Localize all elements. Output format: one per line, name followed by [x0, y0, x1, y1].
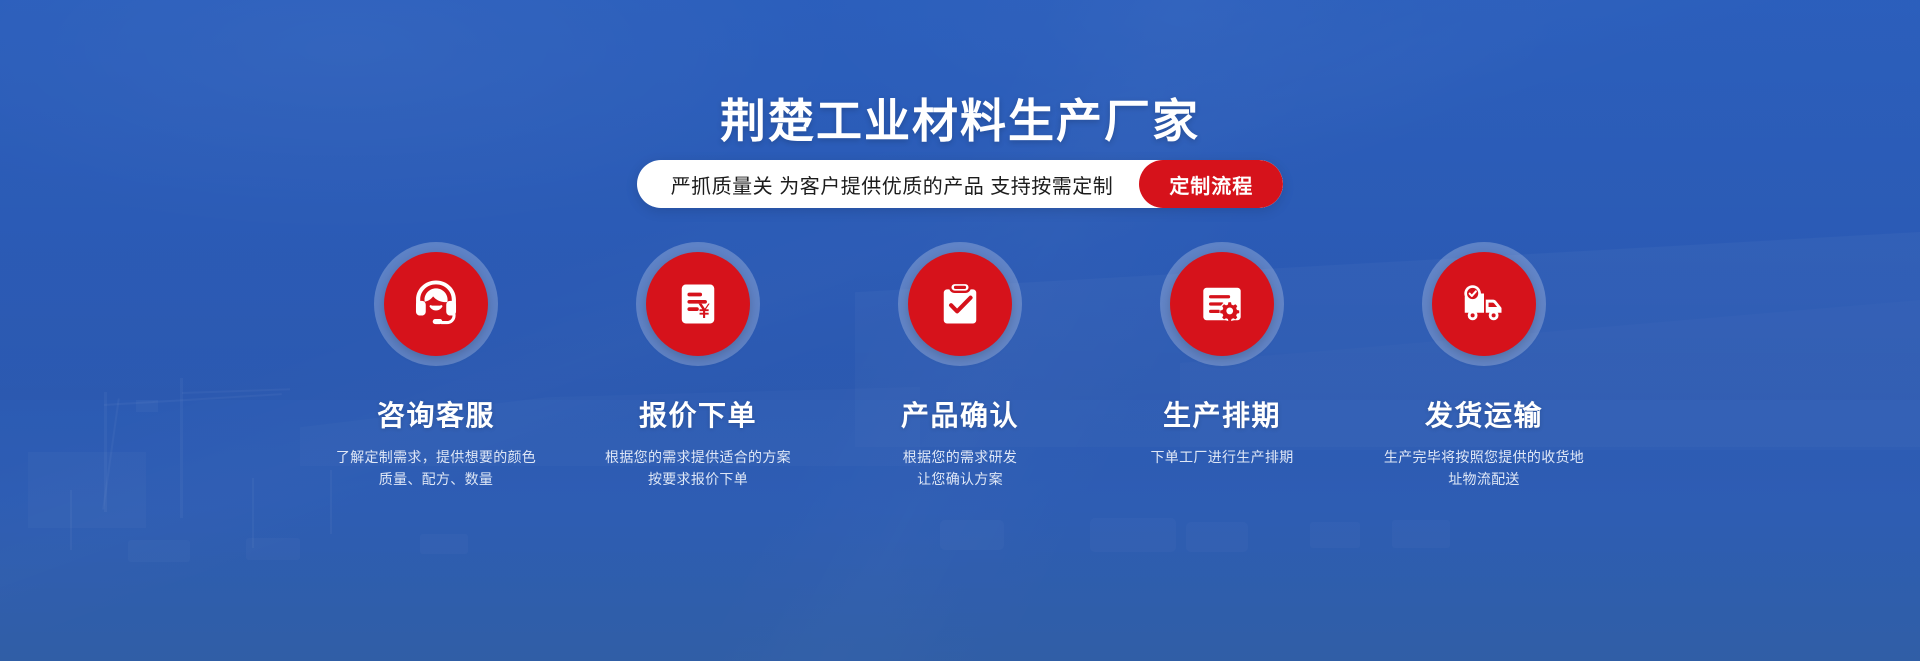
document-gear-icon [1196, 278, 1248, 330]
step-title: 生产排期 [1163, 394, 1281, 434]
step-description-line: 让您确认方案 [903, 468, 1017, 490]
step-description-line: 下单工厂进行生产排期 [1151, 446, 1294, 468]
step-icon-disc [1170, 252, 1274, 356]
process-step-delivery: 发货运输 生产完毕将按照您提供的收货地 址物流配送 [1353, 242, 1615, 490]
headset-support-icon [407, 275, 465, 333]
step-description-line: 质量、配方、数量 [336, 468, 536, 490]
step-icon-button[interactable] [374, 242, 498, 366]
process-step-confirm: 产品确认 根据您的需求研发 让您确认方案 [829, 242, 1091, 490]
custom-process-button[interactable]: 定制流程 [1139, 160, 1283, 208]
step-description-line: 生产完毕将按照您提供的收货地 [1384, 446, 1584, 468]
process-step-quote: 报价下单 根据您的需求提供适合的方案 按要求报价下单 [567, 242, 829, 490]
step-description: 根据您的需求提供适合的方案 按要求报价下单 [605, 446, 791, 490]
step-icon-button[interactable] [1422, 242, 1546, 366]
promo-banner: 荆楚工业材料生产厂家 严抓质量关 为客户提供优质的产品 支持按需定制 定制流程 [0, 0, 1920, 661]
step-icon-disc [1432, 252, 1536, 356]
slogan-text: 严抓质量关 为客户提供优质的产品 支持按需定制 [637, 160, 1140, 208]
step-title: 发货运输 [1425, 394, 1543, 434]
step-icon-button[interactable] [1160, 242, 1284, 366]
step-icon-button[interactable] [636, 242, 760, 366]
step-icon-disc [908, 252, 1012, 356]
process-step-consult: 咨询客服 了解定制需求，提供想要的颜色 质量、配方、数量 [305, 242, 567, 490]
clipboard-check-icon [934, 278, 986, 330]
step-title: 产品确认 [901, 394, 1019, 434]
step-description: 了解定制需求，提供想要的颜色 质量、配方、数量 [336, 446, 536, 490]
page-title: 荆楚工业材料生产厂家 [0, 92, 1920, 150]
step-description-line: 址物流配送 [1384, 468, 1584, 490]
process-steps: 咨询客服 了解定制需求，提供想要的颜色 质量、配方、数量 [0, 242, 1920, 490]
step-description: 根据您的需求研发 让您确认方案 [903, 446, 1017, 490]
step-description: 生产完毕将按照您提供的收货地 址物流配送 [1384, 446, 1584, 490]
step-icon-disc [646, 252, 750, 356]
banner-content: 荆楚工业材料生产厂家 严抓质量关 为客户提供优质的产品 支持按需定制 定制流程 [0, 0, 1920, 661]
step-title: 报价下单 [639, 394, 757, 434]
step-description-line: 了解定制需求，提供想要的颜色 [336, 446, 536, 468]
step-description-line: 按要求报价下单 [605, 468, 791, 490]
step-title: 咨询客服 [377, 394, 495, 434]
step-description-line: 根据您的需求研发 [903, 446, 1017, 468]
step-icon-button[interactable] [898, 242, 1022, 366]
quote-invoice-yuan-icon [672, 278, 724, 330]
delivery-truck-check-icon [1456, 276, 1512, 332]
slogan-bar-wrapper: 严抓质量关 为客户提供优质的产品 支持按需定制 定制流程 [0, 160, 1920, 208]
step-icon-disc [384, 252, 488, 356]
step-description-line: 根据您的需求提供适合的方案 [605, 446, 791, 468]
process-step-schedule: 生产排期 下单工厂进行生产排期 [1091, 242, 1353, 490]
slogan-bar: 严抓质量关 为客户提供优质的产品 支持按需定制 定制流程 [637, 160, 1284, 208]
step-description: 下单工厂进行生产排期 [1151, 446, 1294, 468]
